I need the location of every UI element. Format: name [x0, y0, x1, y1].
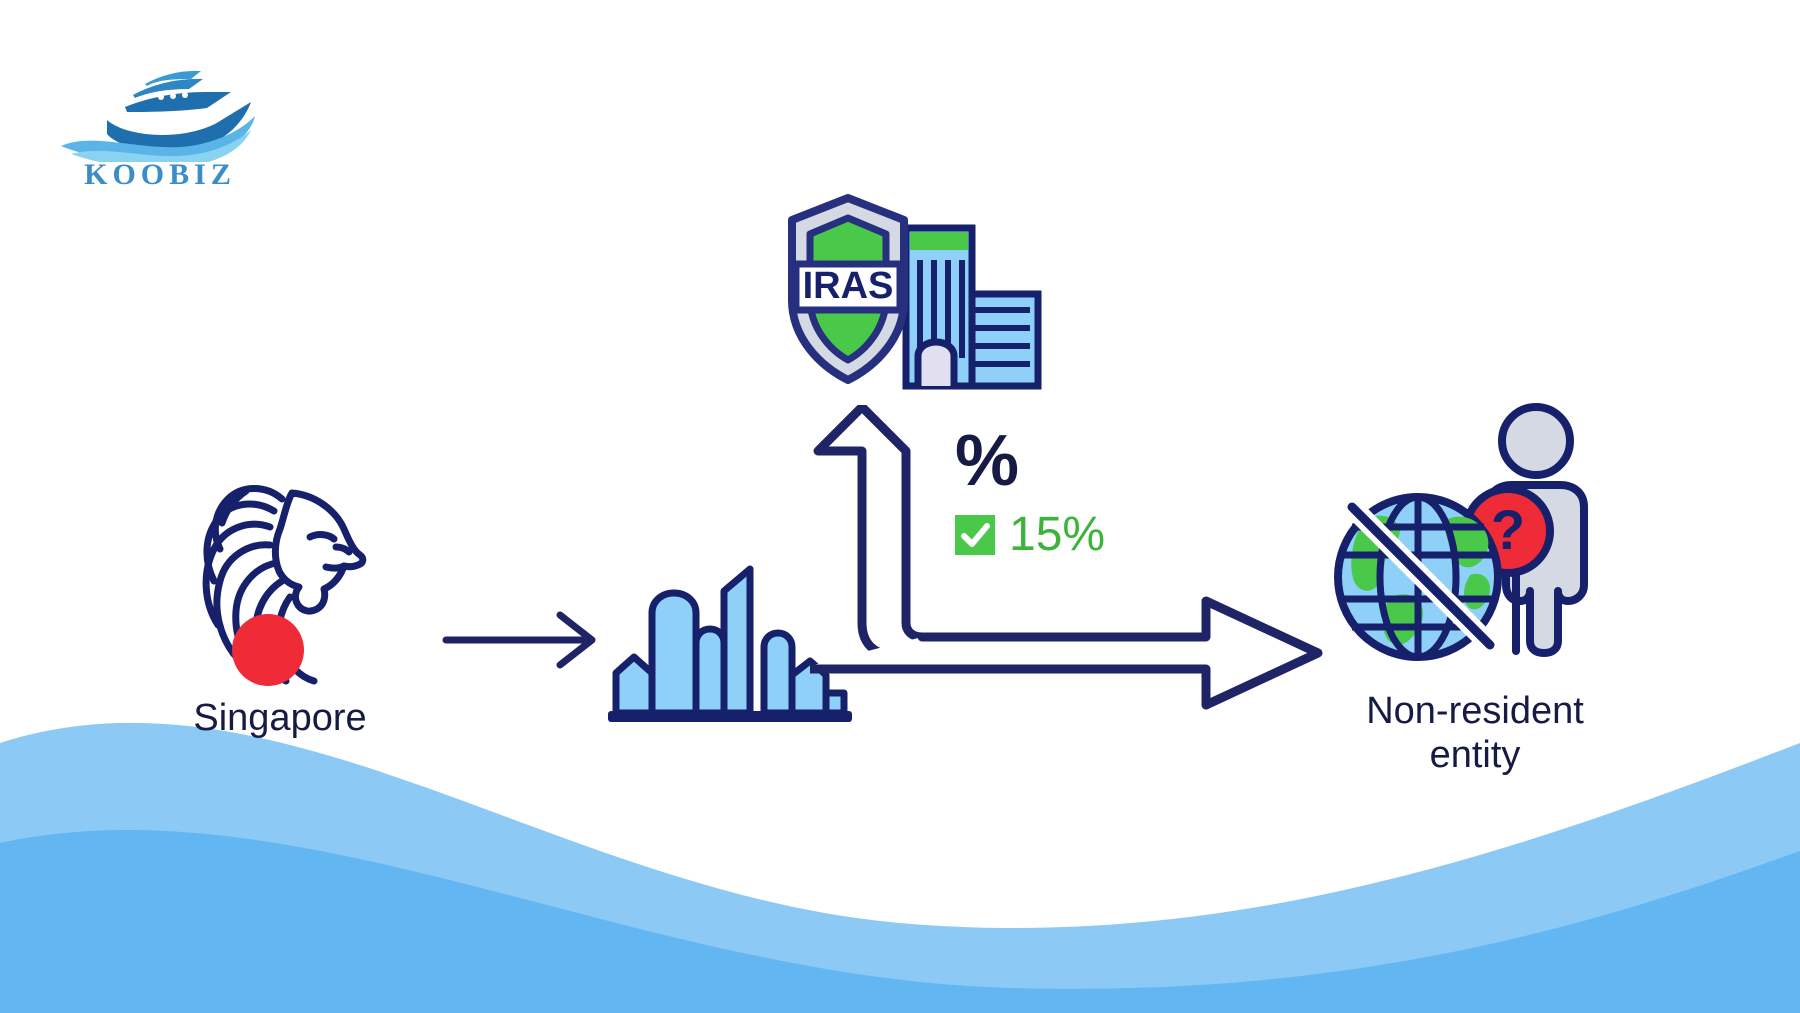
cruise-ship-logo-icon: [55, 62, 265, 162]
infographic-canvas: KOOBIZ Singap: [0, 0, 1800, 1013]
shield-icon: IRAS: [792, 198, 904, 380]
office-building-icon: [906, 228, 1038, 386]
singapore-label: Singapore: [150, 696, 410, 740]
red-dot-accent: [232, 614, 304, 686]
connector-singapore-to-city-icon: [440, 605, 610, 675]
rate-value: 15%: [1009, 511, 1105, 559]
tax-authority-group-icon: IRAS: [770, 190, 1060, 390]
block-arrow-right-icon: [810, 601, 1318, 705]
non-resident-entity-label: Non-resident entity: [1330, 689, 1620, 777]
rate-row: 15%: [955, 511, 1185, 559]
node-iras-authority: IRAS: [770, 190, 1060, 390]
brand-logo[interactable]: KOOBIZ: [55, 62, 265, 197]
non-resident-group-icon: ?: [1330, 395, 1620, 695]
node-non-resident-entity: ?: [1330, 395, 1620, 777]
node-singapore: Singapore: [150, 455, 410, 740]
brand-wordmark: KOOBIZ: [55, 158, 265, 192]
building-green-band: [910, 232, 968, 250]
percent-symbol: %: [955, 425, 1185, 497]
check-box-icon: [955, 515, 995, 555]
merlion-lion-head-icon: [150, 455, 410, 690]
wave-mid-path: [0, 830, 1800, 1013]
withholding-rate-callout: % 15%: [955, 425, 1185, 559]
shield-label: IRAS: [803, 265, 894, 307]
globe-restricted-icon: [1338, 497, 1498, 657]
curved-up-arrow-icon: [818, 407, 928, 655]
